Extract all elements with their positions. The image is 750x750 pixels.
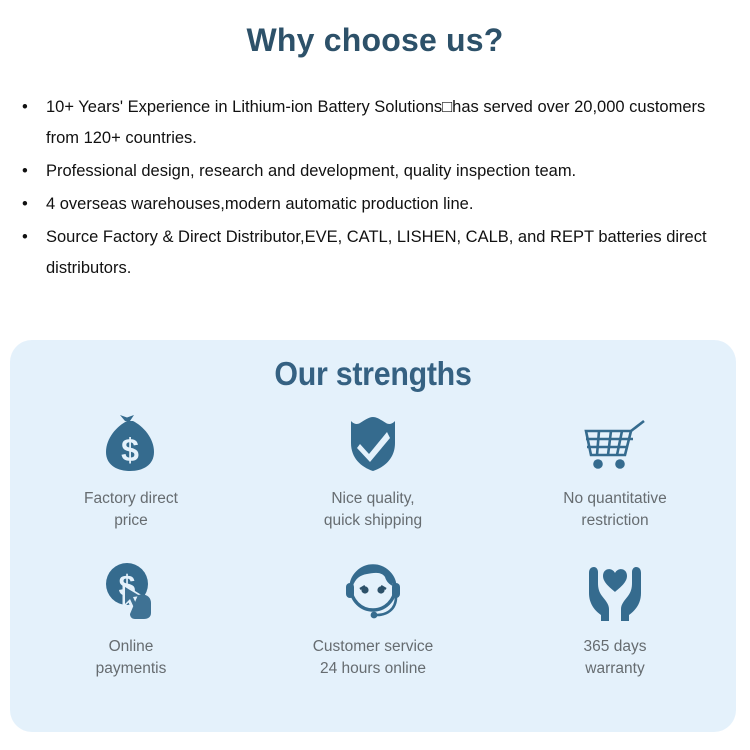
strength-item-no-quantitative-restriction: No quantitative restriction (494, 408, 736, 556)
strength-label: No quantitative restriction (563, 488, 666, 532)
our-strengths-title: Our strengths (39, 355, 707, 393)
hands-heart-icon (585, 560, 645, 624)
svg-text:$: $ (121, 432, 139, 468)
strength-label: Nice quality, quick shipping (324, 488, 422, 532)
list-item: • Source Factory & Direct Distributor,EV… (18, 222, 732, 284)
list-item-text: Professional design, research and develo… (46, 162, 576, 180)
shield-check-icon (345, 412, 401, 476)
list-item: • Professional design, research and deve… (18, 156, 732, 187)
our-strengths-card: Our strengths $ Factory direct price Ni (10, 340, 736, 732)
bullet-marker: • (22, 92, 28, 123)
strength-item-nice-quality: Nice quality, quick shipping (252, 408, 494, 556)
list-item: • 4 overseas warehouses,modern automatic… (18, 189, 732, 220)
bullet-marker: • (22, 156, 28, 187)
list-item-text: Source Factory & Direct Distributor,EVE,… (46, 228, 707, 277)
page-title: Why choose us? (0, 22, 750, 59)
bullet-marker: • (22, 189, 28, 220)
strength-item-online-payments: $ Online paymentis (10, 556, 252, 704)
strength-item-factory-direct-price: $ Factory direct price (10, 408, 252, 556)
list-item-text: 10+ Years' Experience in Lithium-ion Bat… (46, 98, 705, 147)
shopping-cart-icon (583, 412, 647, 476)
why-choose-us-list: • 10+ Years' Experience in Lithium-ion B… (18, 92, 732, 286)
strength-label: Factory direct price (84, 488, 178, 532)
strength-item-warranty: 365 days warranty (494, 556, 736, 704)
money-bag-dollar-icon: $ (103, 412, 159, 476)
list-item-text: 4 overseas warehouses,modern automatic p… (46, 195, 473, 213)
strength-label: Customer service 24 hours online (313, 636, 434, 680)
list-item: • 10+ Years' Experience in Lithium-ion B… (18, 92, 732, 154)
headset-support-icon (340, 560, 406, 624)
coin-dollar-click-icon: $ (102, 560, 160, 624)
bullet-marker: • (22, 222, 28, 253)
strength-label: 365 days warranty (584, 636, 647, 680)
strength-label: Online paymentis (96, 636, 167, 680)
strengths-grid: $ Factory direct price Nice quality, qui… (10, 408, 736, 704)
strength-item-customer-service: Customer service 24 hours online (252, 556, 494, 704)
